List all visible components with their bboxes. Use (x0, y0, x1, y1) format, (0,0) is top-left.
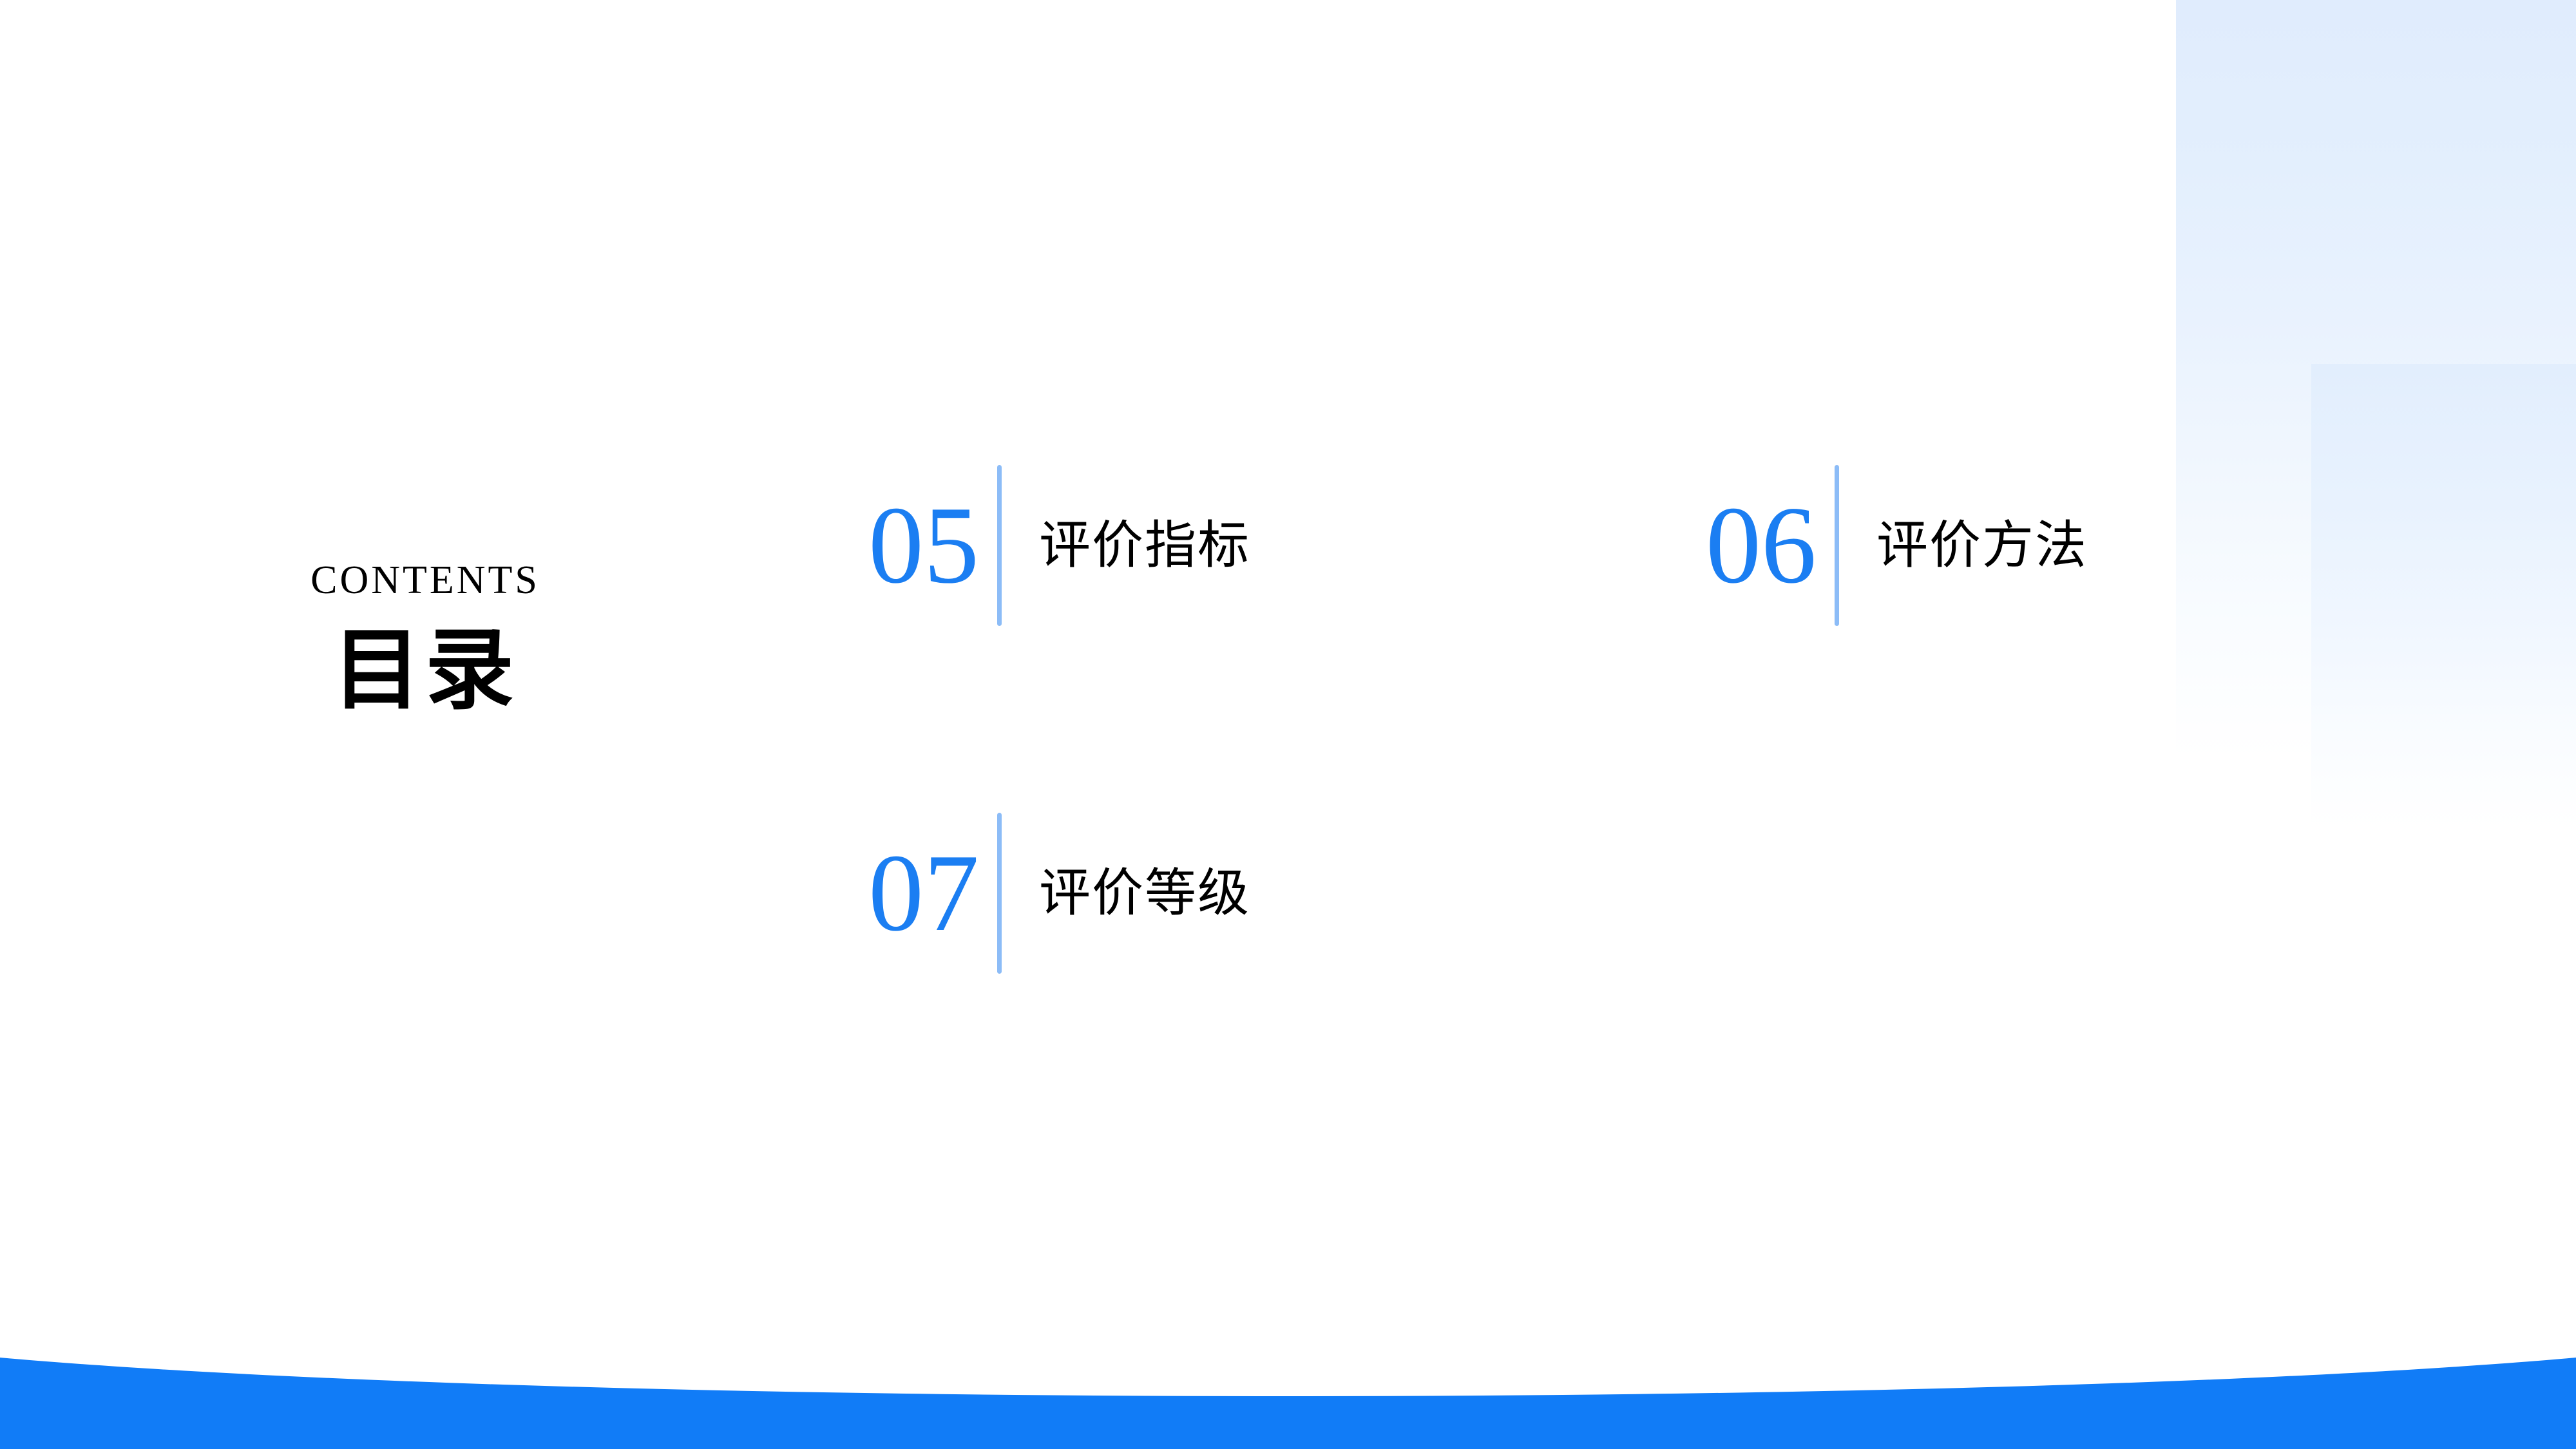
toc-divider-icon (1835, 465, 1839, 626)
page-title-chinese: 目录 (219, 626, 631, 715)
bottom-wave-decoration (0, 1301, 2576, 1449)
toc-number-06: 06 (1706, 490, 1835, 601)
toc-item-05[interactable]: 05 评价指标 (868, 465, 1250, 626)
toc-item-06[interactable]: 06 评价方法 (1706, 465, 2088, 626)
decorative-gradient-panel-large (2176, 0, 2576, 760)
toc-label-06: 评价方法 (1876, 520, 2088, 571)
contents-title-block: CONTENTS 目录 (219, 560, 631, 715)
toc-label-05: 评价指标 (1039, 520, 1250, 571)
toc-divider-icon (997, 465, 1002, 626)
toc-number-07: 07 (868, 838, 997, 949)
page-title-english: CONTENTS (219, 560, 631, 600)
toc-item-07[interactable]: 07 评价等级 (868, 813, 1250, 974)
toc-label-07: 评价等级 (1039, 867, 1250, 919)
decorative-gradient-panel-small (2311, 364, 2576, 828)
contents-slide: CONTENTS 目录 05 评价指标 06 评价方法 07 评价等级 (0, 0, 2576, 1449)
toc-number-05: 05 (868, 490, 997, 601)
toc-divider-icon (997, 813, 1002, 974)
